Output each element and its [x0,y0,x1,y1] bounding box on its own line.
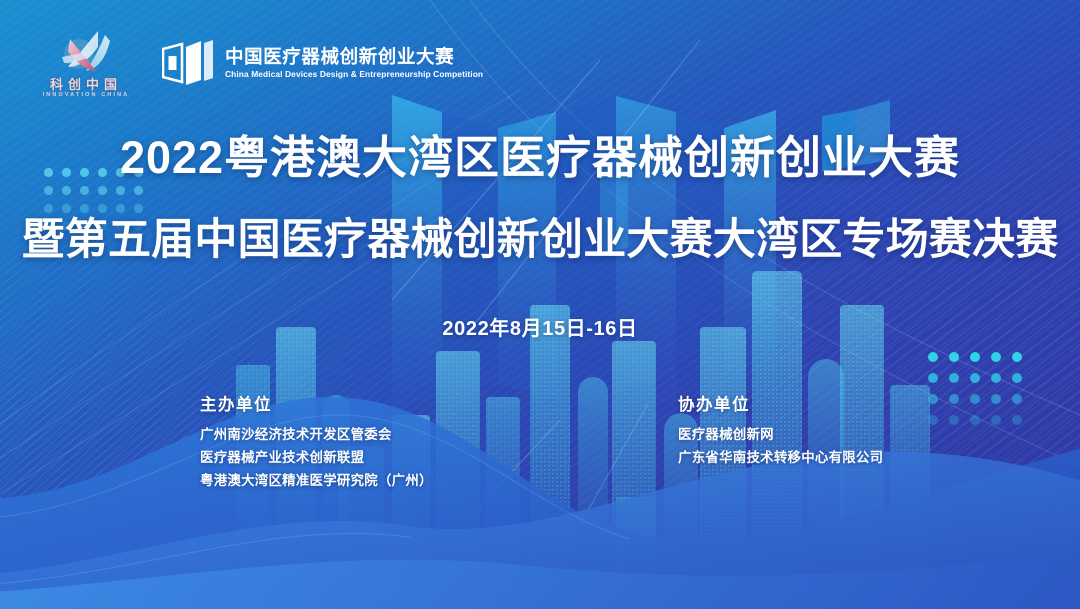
host-organizer-block: 主办单位 广州南沙经济技术开发区管委会 医疗器械产业技术创新联盟 粤港澳大湾区精… [200,391,433,492]
host-organizer-entry: 广州南沙经济技术开发区管委会 [200,423,433,446]
diagonal-stripe-texture-right [580,120,1080,609]
dot-grid-right [928,352,1033,436]
city-skyline-illustration [0,209,1080,609]
event-banner: 科创中国 INNOVATION CHINA 中国医疗器械创新创业大赛 China… [0,0,1080,609]
cohost-organizer-entry: 医疗器械创新网 [678,423,883,446]
host-organizer-entry: 粤港澳大湾区精准医学研究院（广州） [200,469,433,492]
cmd-competition-logo-cn: 中国医疗器械创新创业大赛 [225,46,483,67]
event-title-line-2: 暨第五届中国医疗器械创新创业大赛大湾区专场赛决赛 [0,217,1080,264]
host-organizer-entry: 医疗器械产业技术创新联盟 [200,446,433,469]
innovation-china-mark-icon [48,27,124,77]
host-organizer-heading: 主办单位 [200,391,433,415]
cohost-organizer-block: 协办单位 医疗器械创新网 广东省华南技术转移中心有限公司 [678,391,883,469]
event-title-line-1: 2022粤港澳大湾区医疗器械创新创业大赛 [0,133,1080,183]
cohost-organizer-entry: 广东省华南技术转移中心有限公司 [678,446,883,469]
cmd-competition-logo: 中国医疗器械创新创业大赛 China Medical Devices Desig… [162,40,483,86]
wave-shapes [0,379,1080,609]
innovation-china-logo: 科创中国 INNOVATION CHINA [38,27,134,98]
logo-row: 科创中国 INNOVATION CHINA 中国医疗器械创新创业大赛 China… [38,27,483,98]
cohost-organizer-heading: 协办单位 [678,391,883,415]
open-book-door-mark-icon [162,40,214,86]
innovation-china-logo-en: INNOVATION CHINA [43,93,130,98]
cmd-competition-logo-en: China Medical Devices Design & Entrepren… [225,69,483,80]
event-date: 2022年8月15日-16日 [0,312,1080,341]
innovation-china-logo-cn: 科创中国 [50,78,122,91]
